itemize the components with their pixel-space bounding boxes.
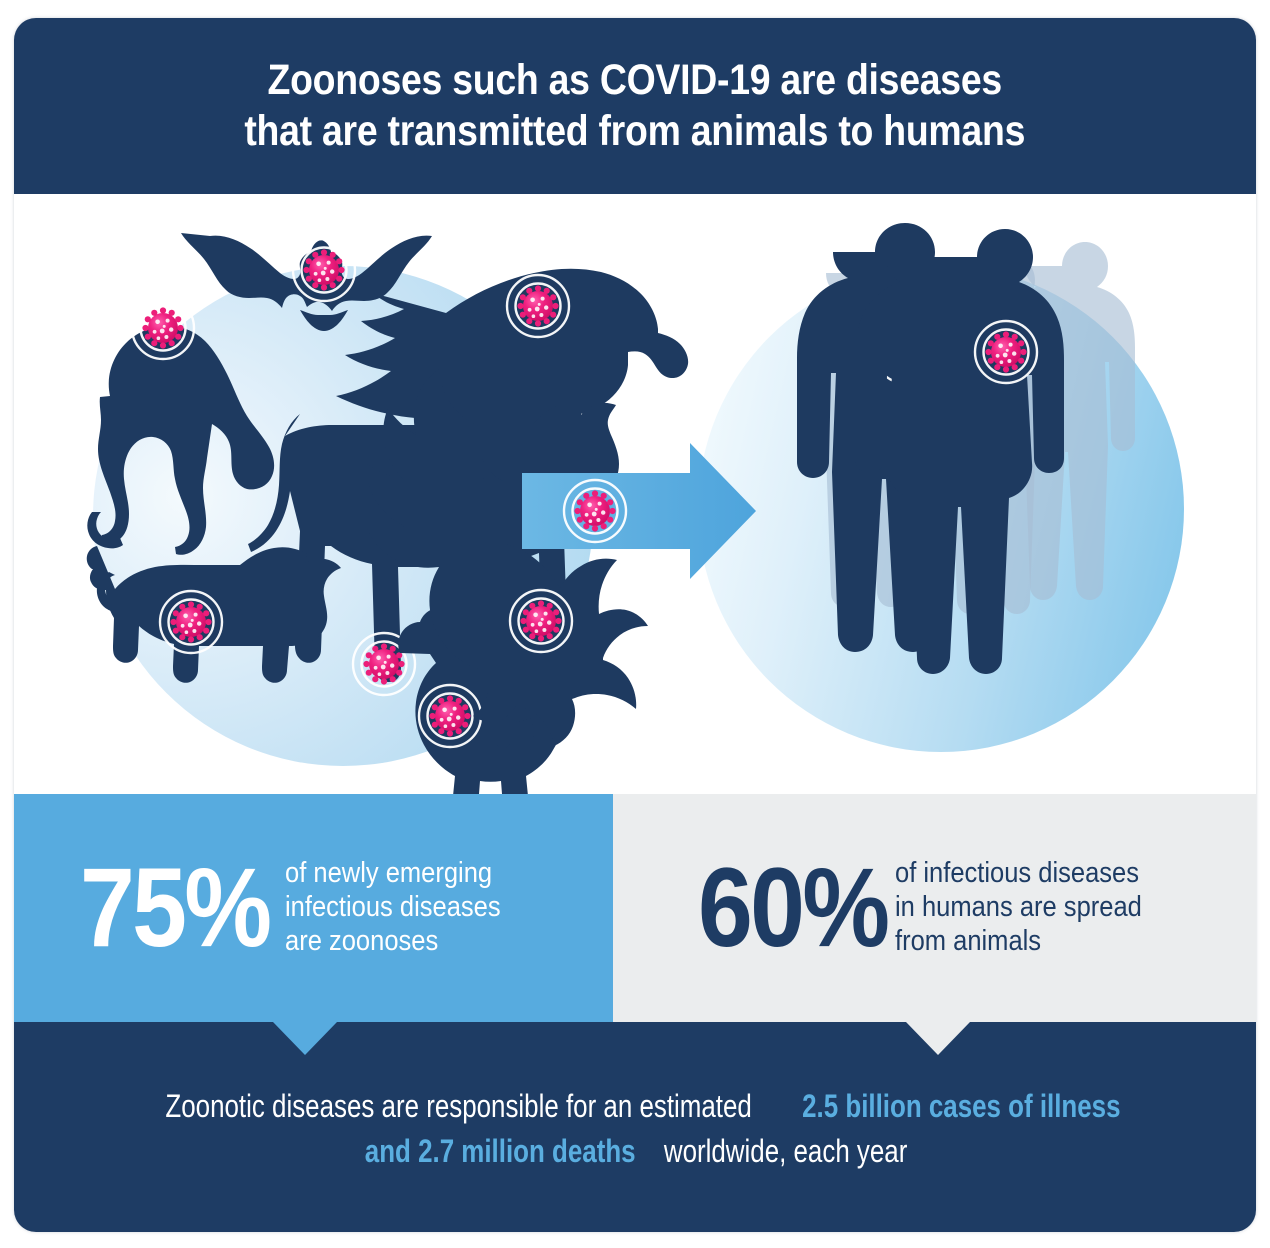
infographic-root: Zoonoses such as COVID-19 are diseases t…	[0, 0, 1270, 1248]
illustration-stage	[14, 194, 1256, 794]
notch-pointer-blue	[273, 1022, 337, 1055]
header-banner: Zoonoses such as COVID-19 are diseases t…	[14, 18, 1256, 194]
footer-banner: Zoonotic diseases are responsible for an…	[14, 1022, 1256, 1232]
footer-highlight-deaths: and 2.7 million deaths	[364, 1129, 635, 1174]
stat-percent-60: 60%	[698, 858, 887, 959]
stat-card-newly-emerging: 75% of newly emerging infectious disease…	[14, 794, 613, 1022]
pig-silhouette	[87, 546, 341, 683]
stat-description-75: of newly emerging infectious diseases ar…	[285, 857, 501, 959]
stat-card-infectious-in-humans: 60% of infectious diseases in humans are…	[613, 794, 1256, 1022]
footer-statement: Zoonotic diseases are responsible for an…	[14, 1084, 1256, 1175]
illustration-artwork	[14, 194, 1256, 794]
footer-line-1: Zoonotic diseases are responsible for an…	[132, 1084, 1137, 1129]
page-title: Zoonoses such as COVID-19 are diseases t…	[245, 55, 1026, 157]
notch-pointer-gray	[906, 1022, 970, 1055]
infographic-card: Zoonoses such as COVID-19 are diseases t…	[14, 18, 1256, 1232]
footer-text-pre: Zoonotic diseases are responsible for an…	[165, 1084, 751, 1129]
statistics-row: 75% of newly emerging infectious disease…	[14, 794, 1256, 1022]
footer-text-post: worldwide, each year	[664, 1129, 907, 1174]
footer-highlight-cases: 2.5 billion cases of illness	[802, 1084, 1120, 1129]
stat-description-60: of infectious diseases in humans are spr…	[895, 857, 1142, 959]
footer-line-2: and 2.7 million deaths worldwide, each y…	[349, 1129, 920, 1174]
stat-percent-75: 75%	[80, 858, 269, 959]
